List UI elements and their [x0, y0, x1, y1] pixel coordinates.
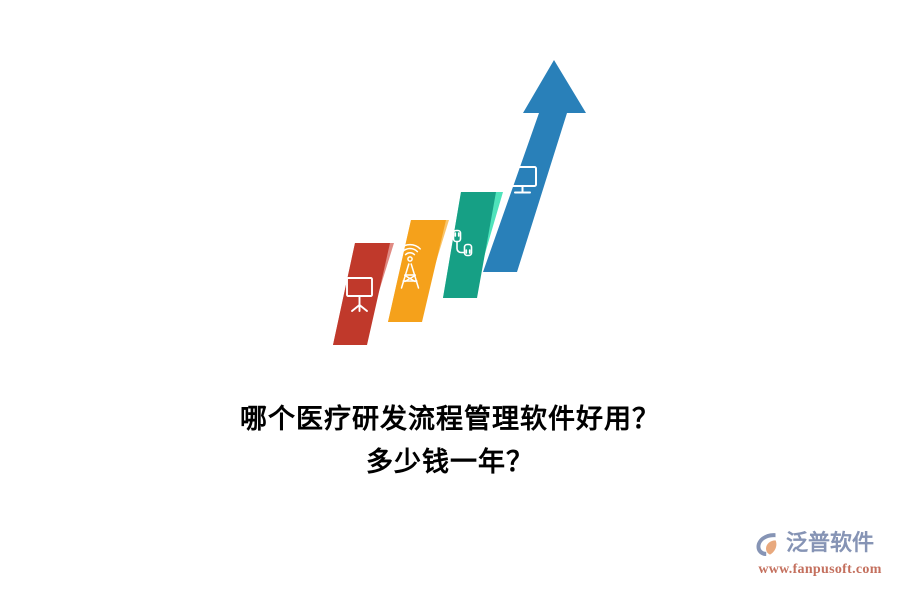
poster-canvas: 哪个医疗研发流程管理软件好用？ 多少钱一年？ 泛普软件 www.fanpusof… — [0, 0, 900, 600]
headline: 哪个医疗研发流程管理软件好用？ 多少钱一年？ — [0, 398, 900, 484]
segment-1-body — [333, 243, 390, 345]
arrow-segment-2 — [388, 220, 449, 322]
headline-line-2: 多少钱一年？ — [0, 441, 900, 484]
arrow-segment-1 — [333, 243, 394, 345]
brand-logo-row: 泛普软件 — [754, 528, 886, 560]
fanpu-logo-icon — [754, 530, 782, 558]
segment-2-body — [388, 220, 446, 322]
rising-arrow-graphic — [0, 0, 900, 380]
headline-line-1: 哪个医疗研发流程管理软件好用？ — [0, 398, 900, 441]
brand-logo: 泛普软件 www.fanpusoft.com — [754, 528, 886, 586]
arrow-segment-4 — [483, 60, 586, 272]
brand-url: www.fanpusoft.com — [754, 561, 886, 579]
brand-name: 泛普软件 — [786, 531, 874, 557]
